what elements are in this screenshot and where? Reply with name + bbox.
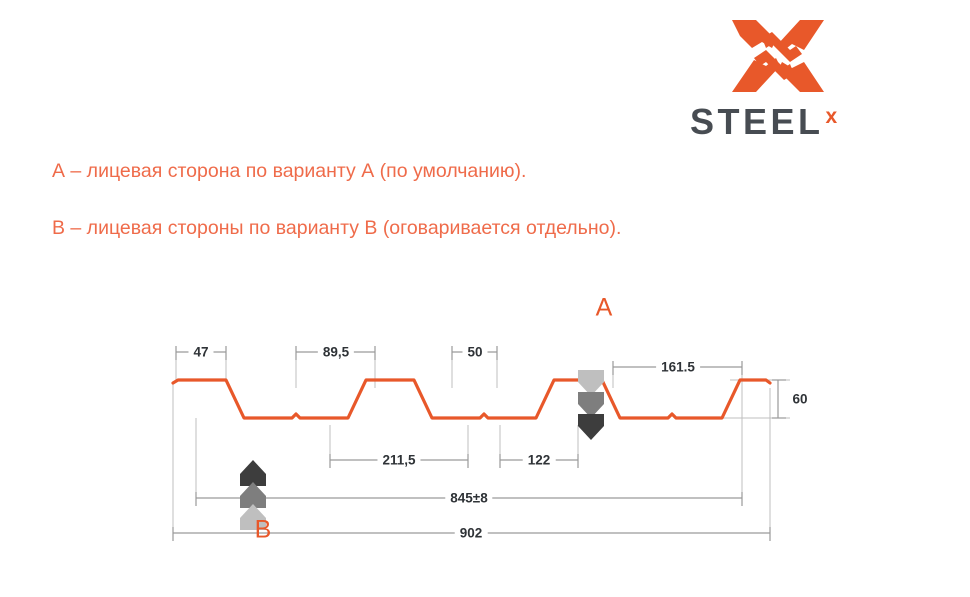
dim-label-122: 122: [523, 453, 556, 468]
brand-logo: STEELx: [690, 18, 880, 138]
logo-wordmark-text: STEEL: [690, 104, 824, 140]
logo-wordmark-superscript: x: [826, 105, 838, 129]
dim-label-47: 47: [188, 345, 213, 360]
dim-label-50: 50: [462, 345, 487, 360]
extension-lines: [173, 348, 790, 538]
marker-a-chevrons: [578, 370, 604, 440]
marker-a-letter: А: [596, 294, 613, 323]
corrugated-profile-path: [173, 380, 770, 418]
caption-variant-a: А – лицевая сторона по варианту А (по ум…: [52, 160, 526, 183]
profile-technical-drawing: 47 89,5 50 161.5 60 211,5 122 845±8 902 …: [0, 270, 970, 560]
dim-label-211-5: 211,5: [377, 453, 420, 468]
dim-label-60: 60: [787, 392, 812, 407]
dim-label-845: 845±8: [445, 491, 492, 506]
dimension-lines: [173, 346, 786, 541]
steelx-x-logo-mark: [732, 18, 824, 94]
dim-label-89-5: 89,5: [318, 345, 354, 360]
dim-label-902: 902: [455, 526, 488, 541]
marker-b-letter: В: [255, 516, 272, 545]
dim-label-161-5: 161.5: [656, 360, 700, 375]
logo-wordmark: STEELx: [690, 104, 880, 144]
caption-variant-b: В – лицевая стороны по варианту В (огова…: [52, 217, 621, 240]
